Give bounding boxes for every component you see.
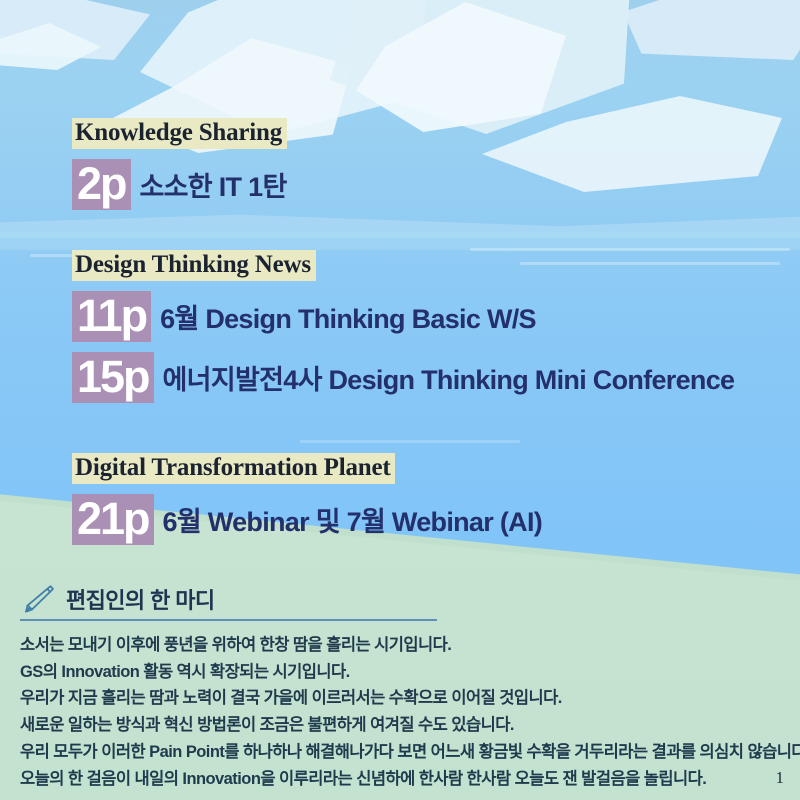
note-line: 오늘의 한 걸음이 내일의 Innovation을 이루리라는 신념하에 한사람…	[20, 766, 780, 793]
editor-note-divider	[20, 619, 437, 621]
note-line: 우리 모두가 이러한 Pain Point를 하나하나 해결해나가다 보면 어느…	[20, 739, 780, 766]
note-line: 우리가 지금 흘리는 땀과 노력이 결국 가을에 이르러서는 수확으로 이어질 …	[20, 685, 780, 712]
editor-note-body: 소서는 모내기 이후에 풍년을 위하여 한창 땀을 흘리는 시기입니다. GS의…	[20, 632, 780, 792]
page-badge[interactable]: 2p	[72, 159, 131, 210]
editor-note-block: 편집인의 한 마디 소서는 모내기 이후에 풍년을 위하여 한창 땀을 흘리는 …	[20, 583, 780, 792]
editor-note-title: 편집인의 한 마디	[66, 583, 215, 615]
page-content: Knowledge Sharing 2p 소소한 IT 1탄 Design Th…	[0, 0, 800, 800]
toc-entry[interactable]: 2p 소소한 IT 1탄	[72, 159, 287, 210]
section-knowledge-sharing: Knowledge Sharing 2p 소소한 IT 1탄	[72, 118, 287, 210]
section-heading: Digital Transformation Planet	[72, 453, 395, 484]
note-line: GS의 Innovation 활동 역시 확장되는 시기입니다.	[20, 659, 780, 686]
section-heading: Knowledge Sharing	[72, 118, 287, 149]
note-line: 소서는 모내기 이후에 풍년을 위하여 한창 땀을 흘리는 시기입니다.	[20, 632, 780, 659]
toc-entry[interactable]: 15p 에너지발전4사 Design Thinking Mini Confere…	[72, 352, 734, 403]
entry-title[interactable]: 6월 Design Thinking Basic W/S	[160, 297, 536, 336]
entry-title[interactable]: 에너지발전4사 Design Thinking Mini Conference	[163, 358, 735, 397]
page-badge[interactable]: 21p	[72, 494, 154, 545]
note-line: 새로운 일하는 방식과 혁신 방법론이 조금은 불편하게 여겨질 수도 있습니다…	[20, 712, 780, 739]
pencil-icon	[20, 583, 56, 615]
page-badge[interactable]: 15p	[72, 352, 154, 403]
section-heading: Design Thinking News	[72, 250, 316, 281]
toc-entry[interactable]: 21p 6월 Webinar 및 7월 Webinar (AI)	[72, 494, 542, 545]
entry-title[interactable]: 6월 Webinar 및 7월 Webinar (AI)	[163, 500, 543, 539]
editor-note-header: 편집인의 한 마디	[20, 583, 780, 615]
toc-entry[interactable]: 11p 6월 Design Thinking Basic W/S	[72, 291, 734, 342]
newsletter-cover-page: Knowledge Sharing 2p 소소한 IT 1탄 Design Th…	[0, 0, 800, 800]
section-digital-transformation-planet: Digital Transformation Planet 21p 6월 Web…	[72, 453, 542, 545]
entry-title[interactable]: 소소한 IT 1탄	[140, 165, 287, 204]
page-number: 1	[776, 768, 785, 788]
page-badge[interactable]: 11p	[72, 291, 151, 342]
section-design-thinking-news: Design Thinking News 11p 6월 Design Think…	[72, 250, 734, 403]
